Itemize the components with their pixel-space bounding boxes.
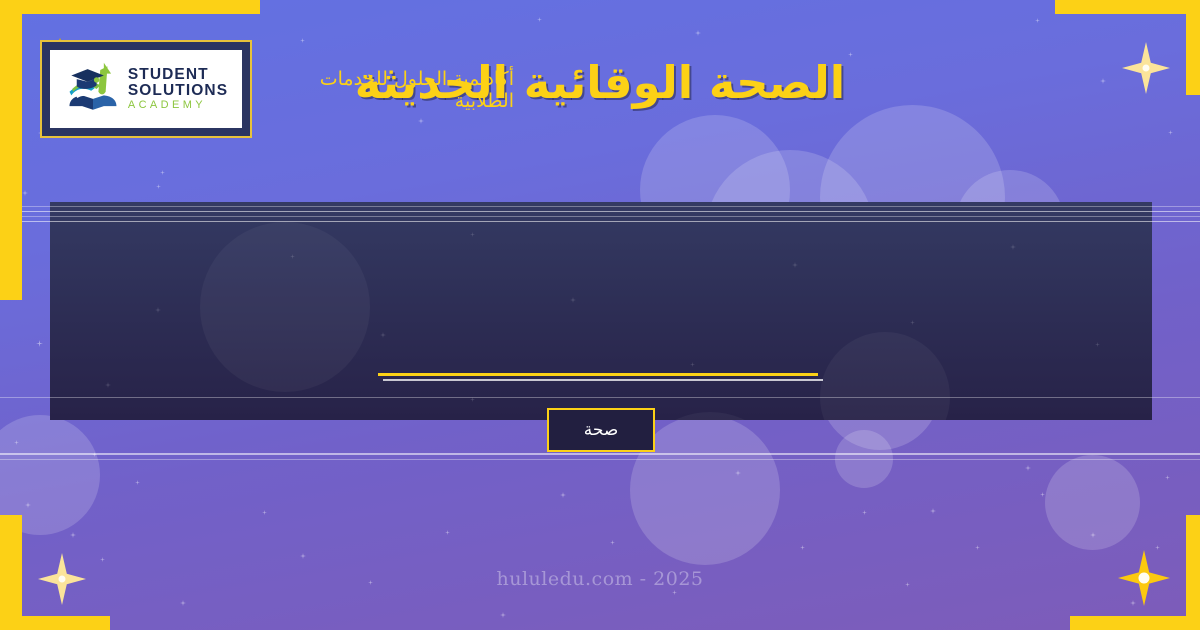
sparkle-icon xyxy=(1040,492,1045,497)
card-sparkle-icon xyxy=(570,297,576,303)
sparkle-icon xyxy=(695,30,701,36)
sparkle-icon xyxy=(610,540,615,545)
logo-frame: STUDENT SOLUTIONS ACADEMY xyxy=(40,40,252,138)
sparkle-icon xyxy=(92,452,97,457)
logo-line-3: ACADEMY xyxy=(128,100,228,111)
footer-text: hululedu.com - 2025 xyxy=(0,568,1200,590)
sparkle-icon xyxy=(1025,465,1031,471)
sparkle-icon xyxy=(672,590,677,595)
streak-line xyxy=(0,459,1200,460)
sparkle-icon xyxy=(862,510,867,515)
sparkle-icon xyxy=(36,340,43,347)
card-sparkle-icon xyxy=(380,332,386,338)
sparkle-icon xyxy=(735,470,741,476)
logo-inner: STUDENT SOLUTIONS ACADEMY xyxy=(50,50,242,128)
sparkle-icon xyxy=(14,440,19,445)
sparkle-icon xyxy=(25,502,31,508)
logo-wordmark: STUDENT SOLUTIONS ACADEMY xyxy=(128,67,228,111)
sparkle-icon xyxy=(180,600,186,606)
sparkle-icon xyxy=(262,510,267,515)
sparkle-icon xyxy=(500,612,506,618)
presentation-slide: الصحة الوقائية الحديثة صحة xyxy=(0,0,1200,630)
card-sparkle-icon xyxy=(910,320,915,325)
card-sparkle-icon xyxy=(470,232,475,237)
sparkle-icon xyxy=(1168,130,1173,135)
sparkle-icon xyxy=(1165,475,1170,480)
card-sparkle-icon xyxy=(1010,244,1016,250)
title-underline-secondary xyxy=(383,379,823,381)
sparkle-icon xyxy=(1035,18,1040,23)
logo-line-1: STUDENT xyxy=(128,67,228,83)
card-sparkle-icon xyxy=(105,382,111,388)
card-sparkle-icon xyxy=(470,397,475,402)
sparkle-icon xyxy=(418,118,424,124)
brand-logo[interactable]: STUDENT SOLUTIONS ACADEMY xyxy=(40,40,252,138)
streak-line xyxy=(0,453,1200,455)
bubble xyxy=(835,430,893,488)
card-sparkle-icon xyxy=(792,262,798,268)
graduation-cap-book-growth-logo-icon xyxy=(64,61,122,117)
sparkle-icon xyxy=(800,545,805,550)
card-bubble xyxy=(820,332,950,420)
sparkle-icon xyxy=(300,553,306,559)
title-underline xyxy=(378,373,818,376)
sparkle-icon xyxy=(445,530,450,535)
card-sparkle-icon xyxy=(690,362,695,367)
brand-arabic-name: أكاديمية الحلول للخدمات الطلابية xyxy=(264,68,514,112)
logo-line-2: SOLUTIONS xyxy=(128,83,228,99)
sparkle-icon xyxy=(975,545,980,550)
status-badge-label: صحة xyxy=(584,420,619,440)
card-sparkle-icon xyxy=(1095,342,1100,347)
sparkle-icon xyxy=(537,17,542,22)
status-badge[interactable]: صحة xyxy=(547,408,655,452)
sparkle-icon xyxy=(560,492,566,498)
sparkle-icon xyxy=(930,508,936,514)
sparkle-icon xyxy=(300,38,305,43)
corner-bracket-top-right xyxy=(1055,0,1200,95)
card-sparkle-icon xyxy=(155,307,161,313)
sparkle-icon xyxy=(135,480,140,485)
